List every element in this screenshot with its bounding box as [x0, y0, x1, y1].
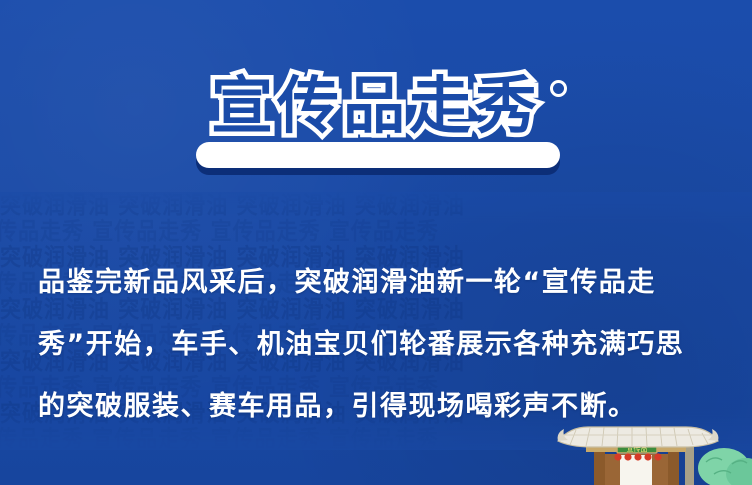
body-line: 秀”开始，车手、机油宝贝们轮番展示各种充满巧思 — [38, 314, 714, 376]
title-block: 宣传品走秀 — [0, 58, 752, 174]
watermark-row: 宣传品走秀 宣传品走秀 宣传品走秀 宣传品走秀 — [0, 216, 752, 245]
body-paragraph: 品鉴完新品风采后，突破润滑油新一轮“宣传品走 秀”开始，车手、机油宝贝们轮番展示… — [38, 252, 714, 438]
gate-post — [685, 446, 694, 485]
gate-pillar-left — [594, 450, 605, 485]
circle-outline-icon — [550, 80, 567, 97]
gate-pillar-right — [668, 450, 679, 485]
watermark-row: 突破润滑油 突破润滑油 突破润滑油 突破润滑油 — [0, 192, 752, 220]
chinese-gate-illustration: 宣传品 — [556, 424, 752, 485]
foliage-shape — [698, 448, 752, 485]
poster-root: 突破润滑油 突破润滑油 突破润滑油 突破润滑油 宣传品走秀 宣传品走秀 宣传品走… — [0, 0, 752, 485]
page-title: 宣传品走秀 — [0, 58, 752, 154]
body-line: 品鉴完新品风采后，突破润滑油新一轮“宣传品走 — [38, 252, 714, 314]
gate-roof — [558, 427, 719, 447]
